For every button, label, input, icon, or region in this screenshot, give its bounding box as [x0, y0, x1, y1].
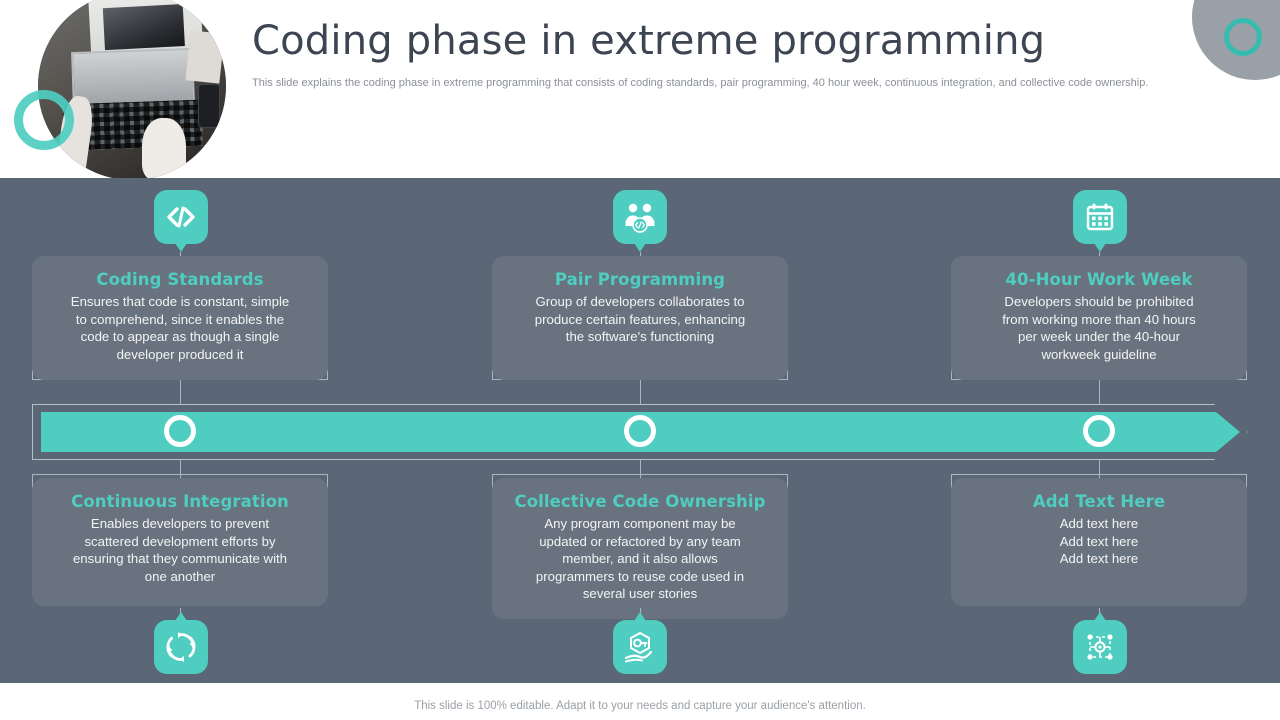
card-line: Any program component may be — [506, 515, 774, 533]
card-title: 40-Hour Work Week — [965, 270, 1233, 289]
card-title: Coding Standards — [46, 270, 314, 289]
card-line: Ensures that code is constant, simple — [46, 293, 314, 311]
photo-phone — [198, 84, 220, 128]
card-title: Collective Code Ownership — [506, 492, 774, 511]
card-line: the software's functioning — [506, 328, 774, 346]
card-line: produce certain features, enhancing — [506, 311, 774, 329]
calendar-icon — [1073, 190, 1127, 244]
timeline-node-1[interactable] — [164, 415, 196, 447]
icon-40-hour-week[interactable] — [1073, 190, 1127, 252]
network-nodes-icon — [1073, 620, 1127, 674]
photo-hand-right — [142, 118, 186, 180]
card-body: Ensures that code is constant, simple to… — [46, 293, 314, 363]
card-body: Any program component may be updated or … — [506, 515, 774, 603]
card-title: Pair Programming — [506, 270, 774, 289]
connector-line — [1099, 380, 1100, 404]
two-people-code-icon — [613, 190, 667, 244]
code-tag-icon — [154, 190, 208, 244]
card-line: code to appear as though a single — [46, 328, 314, 346]
footer-note: This slide is 100% editable. Adapt it to… — [0, 700, 1280, 712]
refresh-cycle-icon — [154, 620, 208, 674]
card-line: Add text here — [965, 533, 1233, 551]
connector-line — [180, 380, 181, 404]
timeline-node-3[interactable] — [1083, 415, 1115, 447]
card-body: Enables developers to prevent scattered … — [46, 515, 314, 585]
icon-coding-standards[interactable] — [154, 190, 208, 252]
card-add-text-here[interactable]: Add Text Here Add text here Add text her… — [951, 478, 1247, 606]
decorative-ring-right-icon — [1224, 18, 1262, 56]
card-line: ensuring that they communicate with — [46, 550, 314, 568]
icon-collective-code-ownership[interactable] — [613, 612, 667, 674]
photo-laptop-screen — [71, 48, 195, 108]
page-title: Coding phase in extreme programming — [252, 18, 1045, 64]
icon-pointer-tail — [632, 240, 648, 252]
card-line: from working more than 40 hours — [965, 311, 1233, 329]
card-line: member, and it also allows — [506, 550, 774, 568]
card-title: Continuous Integration — [46, 492, 314, 511]
hero-photo — [38, 0, 226, 180]
card-line: updated or refactored by any team — [506, 533, 774, 551]
icon-pointer-tail — [173, 240, 189, 252]
card-continuous-integration[interactable]: Continuous Integration Enables developer… — [32, 478, 328, 606]
card-line: Group of developers collaborates to — [506, 293, 774, 311]
card-line: programmers to reuse code used in — [506, 568, 774, 586]
card-line: scattered development efforts by — [46, 533, 314, 551]
card-line: Enables developers to prevent — [46, 515, 314, 533]
card-line: Add text here — [965, 515, 1233, 533]
card-line: to comprehend, since it enables the — [46, 311, 314, 329]
icon-pair-programming[interactable] — [613, 190, 667, 252]
icon-add-text-here[interactable] — [1073, 612, 1127, 674]
card-line: per week under the 40-hour — [965, 328, 1233, 346]
page-subtitle: This slide explains the coding phase in … — [252, 76, 1242, 90]
card-body: Group of developers collaborates to prod… — [506, 293, 774, 346]
card-40-hour-week[interactable]: 40-Hour Work Week Developers should be p… — [951, 256, 1247, 380]
card-coding-standards[interactable]: Coding Standards Ensures that code is co… — [32, 256, 328, 380]
card-line: one another — [46, 568, 314, 586]
decorative-ring-left-icon — [14, 90, 74, 150]
card-line: several user stories — [506, 585, 774, 603]
card-collective-code-ownership[interactable]: Collective Code Ownership Any program co… — [492, 478, 788, 619]
slide-header: Coding phase in extreme programming This… — [0, 0, 1280, 178]
timeline-node-2[interactable] — [624, 415, 656, 447]
card-line: developer produced it — [46, 346, 314, 364]
photo-notepad — [185, 30, 224, 83]
hand-key-hexagon-icon — [613, 620, 667, 674]
icon-pointer-tail — [1092, 240, 1108, 252]
icon-continuous-integration[interactable] — [154, 612, 208, 674]
card-line: workweek guideline — [965, 346, 1233, 364]
connector-line — [640, 380, 641, 404]
card-title: Add Text Here — [965, 492, 1233, 511]
card-body: Add text here Add text here Add text her… — [965, 515, 1233, 568]
card-line: Add text here — [965, 550, 1233, 568]
slide-root: Coding phase in extreme programming This… — [0, 0, 1280, 720]
card-line: Developers should be prohibited — [965, 293, 1233, 311]
card-body: Developers should be prohibited from wor… — [965, 293, 1233, 363]
card-pair-programming[interactable]: Pair Programming Group of developers col… — [492, 256, 788, 380]
